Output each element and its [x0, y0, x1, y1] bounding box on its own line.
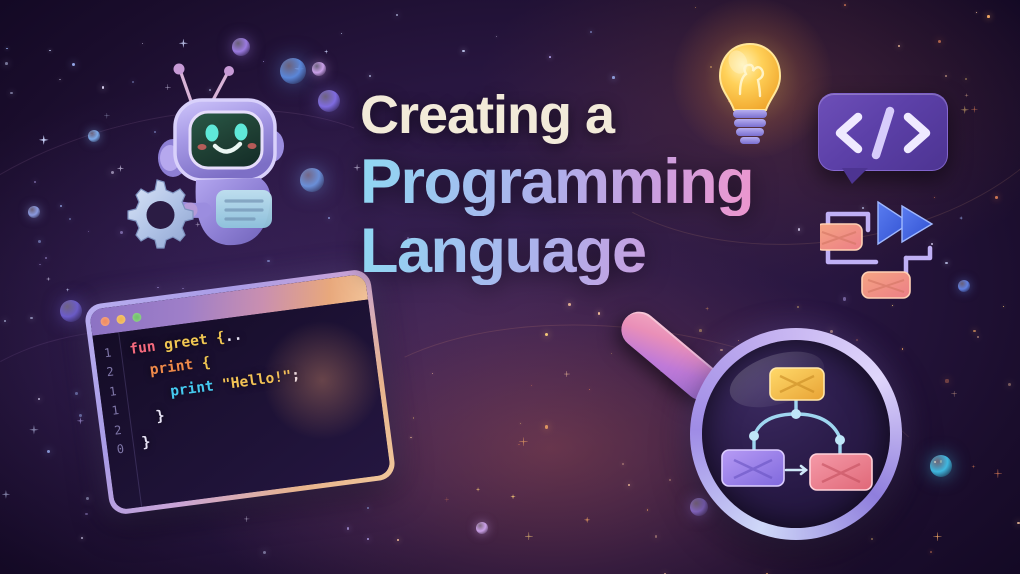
star — [628, 484, 630, 486]
star — [328, 217, 330, 219]
star — [995, 196, 998, 199]
star — [47, 450, 50, 453]
star — [971, 106, 978, 113]
star — [564, 371, 571, 378]
star — [5, 62, 8, 65]
star — [69, 218, 71, 220]
orb — [28, 206, 40, 218]
star — [142, 43, 144, 45]
star — [102, 86, 105, 89]
star — [611, 353, 612, 354]
orb — [232, 38, 250, 56]
star — [797, 306, 799, 308]
star — [39, 264, 40, 265]
line-number: 2 — [113, 421, 123, 441]
star — [930, 551, 932, 553]
star — [960, 105, 969, 114]
flowchart-decoration — [820, 196, 970, 304]
star — [341, 33, 342, 34]
window-frame: 121120 fun greet {.. print { print "Hell… — [83, 268, 396, 516]
banner-canvas: Creating a Programming Language — [0, 0, 1020, 574]
line-number: 1 — [111, 401, 121, 421]
star — [462, 50, 464, 52]
title-line-1: Creating a — [360, 88, 800, 143]
star — [892, 305, 893, 306]
star — [66, 288, 70, 292]
star — [695, 7, 696, 8]
code-token: } — [138, 409, 166, 428]
star — [367, 538, 369, 540]
magnifying-glass-ast — [690, 328, 902, 540]
code-token: "Hello!" — [221, 368, 292, 393]
star — [397, 539, 399, 541]
star — [324, 49, 329, 54]
star — [111, 171, 114, 174]
star — [4, 320, 6, 322]
star — [10, 92, 12, 94]
star — [568, 303, 571, 306]
star — [994, 469, 1003, 478]
star — [612, 76, 615, 79]
star — [964, 93, 969, 98]
star — [844, 4, 846, 6]
star — [410, 437, 411, 438]
star — [647, 509, 648, 510]
star — [6, 48, 7, 49]
star — [432, 373, 433, 374]
star — [59, 79, 60, 80]
star — [705, 306, 709, 310]
star — [977, 336, 979, 338]
traffic-light-maximize[interactable] — [132, 312, 142, 322]
star — [396, 14, 399, 17]
orb — [60, 300, 82, 322]
star — [157, 287, 159, 289]
star — [104, 113, 110, 119]
ast-tree — [702, 340, 890, 528]
star — [669, 479, 671, 481]
star — [598, 312, 600, 314]
star — [182, 288, 183, 289]
star — [79, 414, 82, 417]
page-title: Creating a Programming Language — [360, 88, 800, 285]
code-token: } — [141, 434, 152, 451]
orb — [318, 90, 340, 112]
star — [45, 257, 47, 259]
star — [945, 75, 947, 77]
code-text[interactable]: fun greet {.. print { print "Hello!"; }} — [119, 299, 391, 506]
star — [369, 75, 371, 77]
line-number: 1 — [108, 382, 118, 402]
star — [945, 379, 948, 382]
orb — [930, 455, 952, 477]
star — [973, 330, 975, 332]
star — [976, 12, 977, 13]
orb — [88, 130, 100, 142]
star — [655, 535, 658, 538]
code-token: { — [201, 355, 212, 372]
star — [545, 333, 548, 336]
star — [965, 78, 967, 80]
star — [444, 497, 449, 502]
star — [29, 425, 39, 435]
star — [584, 517, 591, 524]
star — [244, 516, 250, 522]
star — [77, 417, 85, 425]
star — [545, 425, 548, 428]
star — [1008, 383, 1011, 386]
code-tag-bubble — [818, 93, 948, 171]
star — [46, 277, 51, 282]
star — [622, 463, 624, 465]
ast-node — [722, 450, 784, 486]
star — [75, 392, 78, 395]
star — [39, 135, 49, 145]
star — [347, 527, 349, 529]
star — [496, 36, 497, 37]
star — [987, 15, 990, 18]
star — [525, 532, 533, 540]
star — [413, 417, 414, 418]
code-token: fun — [129, 338, 166, 358]
star — [933, 532, 942, 541]
star — [85, 513, 88, 516]
code-token: greet { — [163, 330, 226, 354]
star — [951, 391, 957, 397]
star — [367, 507, 369, 509]
line-number: 0 — [116, 440, 126, 460]
magnifier-glass — [702, 340, 890, 528]
title-line-2: Programming — [360, 149, 800, 216]
orb — [476, 522, 488, 534]
star — [549, 56, 551, 58]
star — [263, 551, 266, 554]
star — [971, 464, 975, 468]
traffic-light-minimize[interactable] — [116, 314, 126, 324]
double-arrow-icon — [878, 202, 932, 244]
star — [1003, 306, 1004, 307]
ast-node — [810, 454, 872, 490]
star — [510, 494, 515, 499]
code-editor-window[interactable]: 121120 fun greet {.. print { print "Hell… — [83, 268, 396, 516]
star — [34, 181, 36, 183]
star — [179, 39, 188, 48]
ast-edge-arrow — [786, 466, 806, 474]
ast-node — [770, 368, 824, 400]
star — [30, 317, 32, 319]
star — [38, 240, 41, 243]
star — [2, 490, 11, 499]
star — [898, 45, 900, 47]
robot-mascot — [120, 62, 320, 252]
star — [267, 260, 269, 262]
star — [590, 31, 592, 33]
star — [81, 537, 83, 539]
code-token: ; — [290, 367, 301, 384]
line-number: 2 — [106, 363, 116, 383]
star — [589, 389, 591, 391]
star — [38, 398, 40, 400]
star — [49, 50, 50, 51]
window-inner: 121120 fun greet {.. print { print "Hell… — [89, 274, 391, 511]
line-number: 1 — [103, 344, 113, 364]
star — [72, 63, 75, 66]
star — [518, 444, 519, 445]
code-angle-brackets-icon — [840, 111, 926, 155]
star — [86, 497, 89, 500]
star — [531, 385, 532, 386]
star — [938, 40, 941, 43]
star — [520, 423, 521, 424]
star — [60, 205, 62, 207]
star — [519, 437, 528, 446]
code-token: .. — [224, 327, 243, 345]
editor-body: 121120 fun greet {.. print { print "Hell… — [92, 299, 391, 510]
title-line-3: Language — [360, 218, 800, 285]
traffic-light-close[interactable] — [100, 316, 110, 326]
star — [88, 231, 89, 232]
star — [476, 487, 481, 492]
